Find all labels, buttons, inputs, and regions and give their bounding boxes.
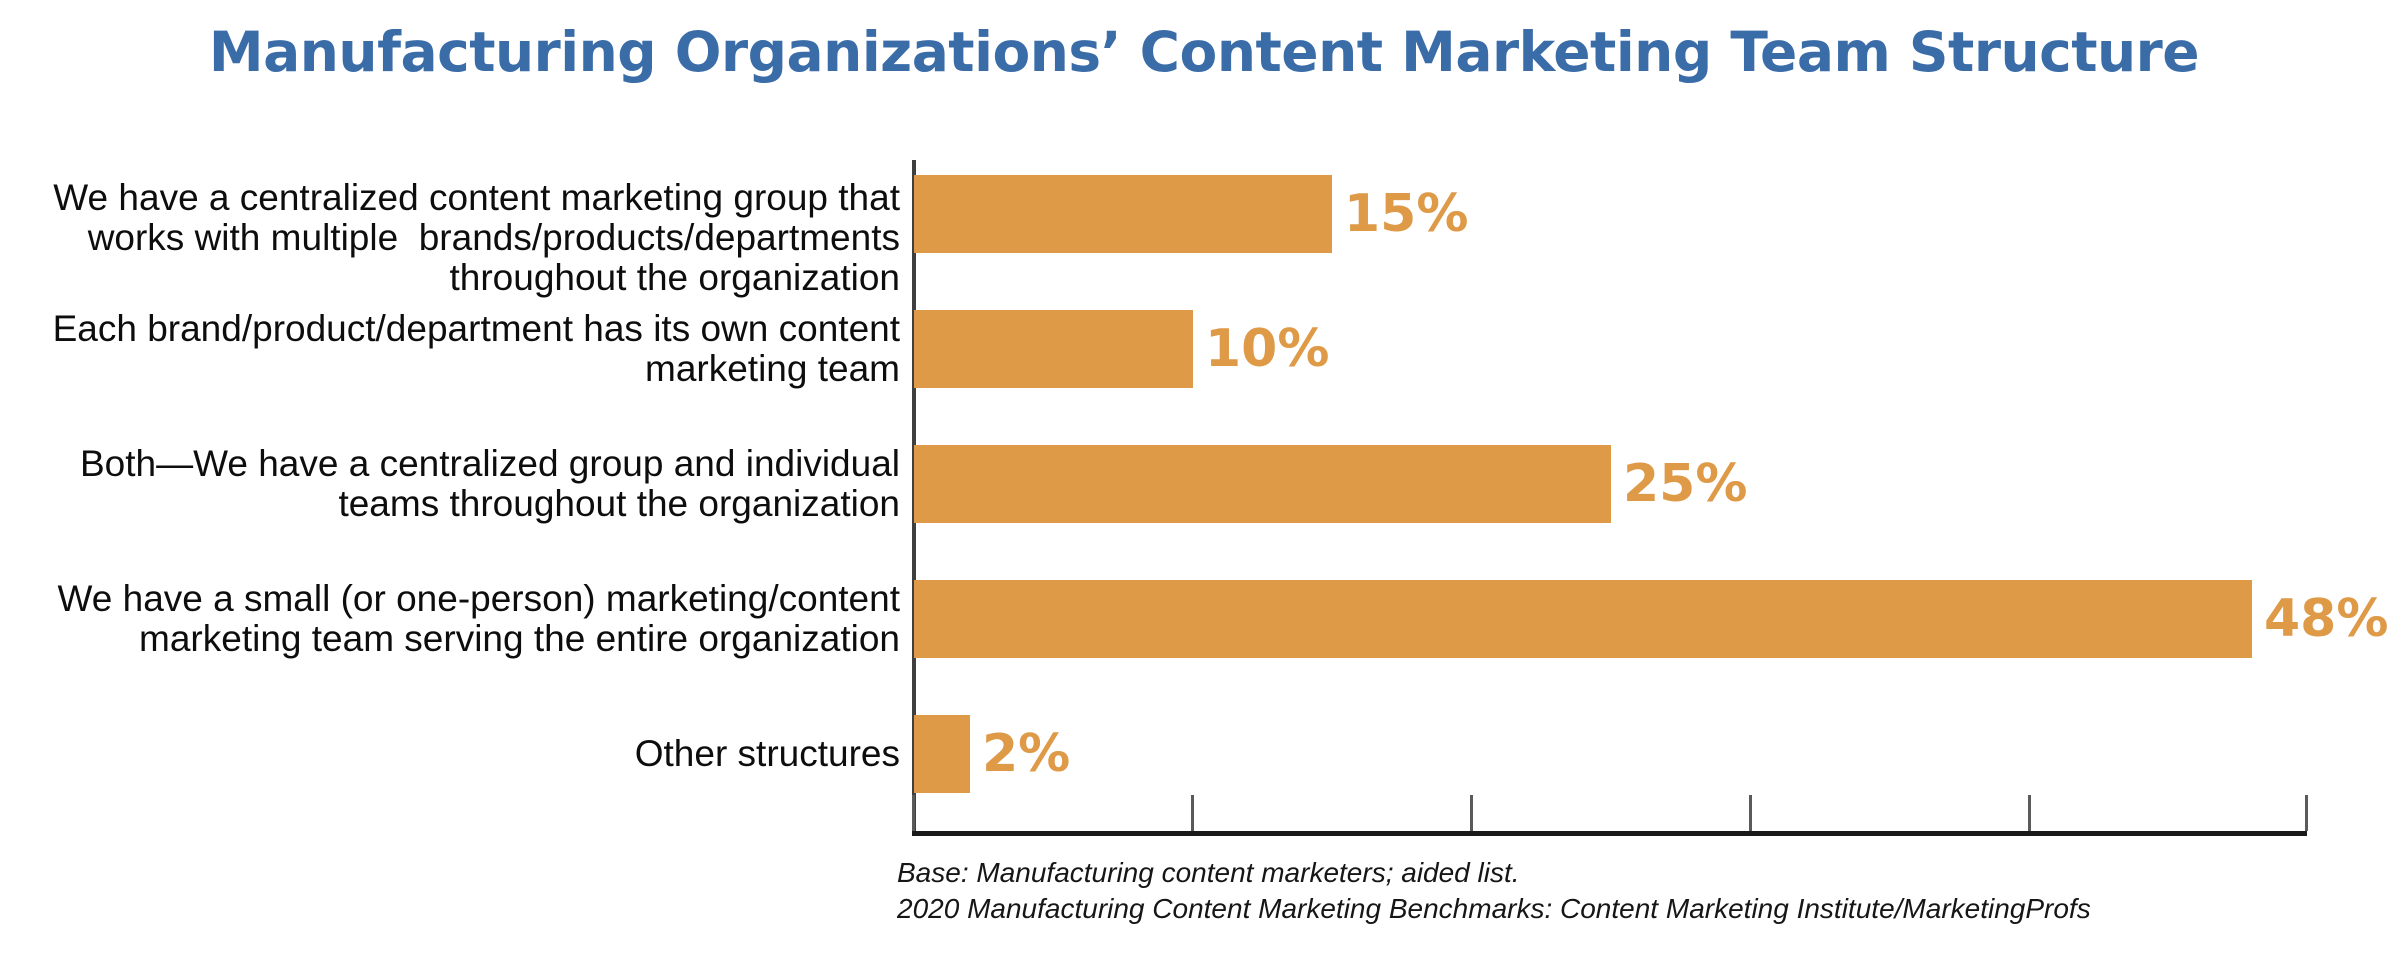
page-title: Manufacturing Organizations’ Content Mar… — [0, 20, 2408, 84]
bar-row: Other structures 2% — [0, 690, 2408, 818]
category-label: We have a small (or one-person) marketin… — [20, 579, 900, 659]
bar-row: Both—We have a centralized group and ind… — [0, 420, 2408, 548]
x-axis-line — [912, 831, 2307, 836]
bar-segment[interactable] — [914, 310, 1193, 388]
category-label: Each brand/product/department has its ow… — [20, 309, 900, 389]
bar-value-label: 48% — [2264, 589, 2388, 649]
category-label: Both—We have a centralized group and ind… — [20, 444, 900, 524]
bar-container: 48% — [914, 555, 2388, 683]
bar-container: 2% — [914, 690, 1070, 818]
bar-value-label: 10% — [1205, 319, 1329, 379]
bar-chart: We have a centralized content marketing … — [0, 150, 2408, 840]
bar-segment[interactable] — [914, 445, 1611, 523]
bar-row: We have a small (or one-person) marketin… — [0, 555, 2408, 683]
bar-row: We have a centralized content marketing … — [0, 150, 2408, 278]
footnote-source: 2020 Manufacturing Content Marketing Ben… — [897, 891, 2091, 927]
bar-segment[interactable] — [914, 580, 2252, 658]
bar-container: 25% — [914, 420, 1747, 548]
bar-segment[interactable] — [914, 715, 970, 793]
footnote-base: Base: Manufacturing content marketers; a… — [897, 855, 2091, 891]
bar-container: 10% — [914, 285, 1329, 413]
category-label: Other structures — [20, 734, 900, 774]
bar-row: Each brand/product/department has its ow… — [0, 285, 2408, 413]
bar-value-label: 25% — [1623, 454, 1747, 514]
bar-segment[interactable] — [914, 175, 1332, 253]
bar-value-label: 15% — [1344, 184, 1468, 244]
chart-footnotes: Base: Manufacturing content marketers; a… — [897, 855, 2091, 927]
bar-container: 15% — [914, 150, 1468, 278]
category-label: We have a centralized content marketing … — [20, 178, 900, 298]
bar-value-label: 2% — [982, 724, 1070, 784]
